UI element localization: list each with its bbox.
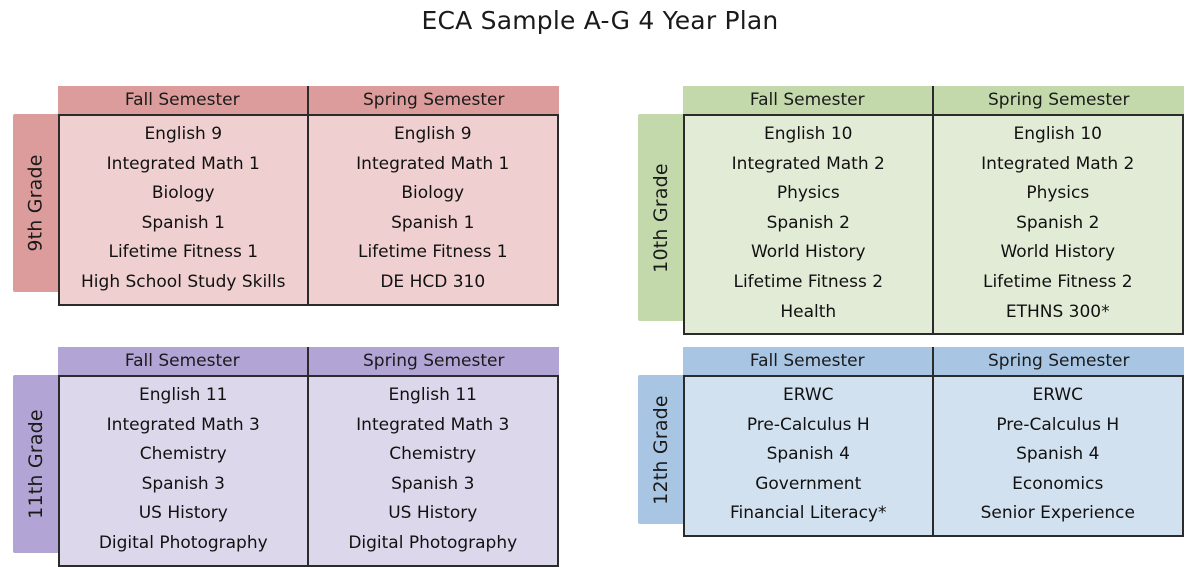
course-cell: Spanish 1 bbox=[60, 209, 307, 239]
column-header-fall: Fall Semester bbox=[58, 347, 309, 375]
spring-course-list: ERWCPre-Calculus HSpanish 4EconomicsSeni… bbox=[934, 377, 1183, 535]
course-cell: English 10 bbox=[685, 120, 932, 150]
course-cell: High School Study Skills bbox=[60, 268, 307, 298]
grade-tab-label: 11th Grade bbox=[25, 409, 47, 519]
course-cell: US History bbox=[309, 499, 558, 529]
course-cell: Spanish 4 bbox=[685, 440, 932, 470]
plan-table-grade-10: Fall Semester Spring Semester English 10… bbox=[683, 86, 1184, 335]
plan-body: English 11Integrated Math 3ChemistrySpan… bbox=[58, 375, 559, 567]
grade-tab-label: 10th Grade bbox=[650, 163, 672, 273]
course-cell: Pre-Calculus H bbox=[685, 411, 932, 441]
course-cell: Spanish 1 bbox=[309, 209, 558, 239]
plan-header-row: Fall Semester Spring Semester bbox=[683, 86, 1184, 114]
spring-course-list: English 10Integrated Math 2PhysicsSpanis… bbox=[934, 116, 1183, 333]
course-cell: English 9 bbox=[309, 120, 558, 150]
page-title: ECA Sample A-G 4 Year Plan bbox=[0, 6, 1200, 35]
grade-tab-grade-10: 10th Grade bbox=[638, 114, 683, 321]
course-cell: Integrated Math 1 bbox=[60, 150, 307, 180]
course-cell: ERWC bbox=[685, 381, 932, 411]
fall-course-list: English 9Integrated Math 1BiologySpanish… bbox=[60, 116, 309, 304]
plan-header-row: Fall Semester Spring Semester bbox=[58, 86, 559, 114]
course-cell: ETHNS 300* bbox=[934, 298, 1183, 328]
grade-tab-grade-12: 12th Grade bbox=[638, 375, 683, 524]
course-cell: Economics bbox=[934, 470, 1183, 500]
course-cell: Integrated Math 2 bbox=[685, 150, 932, 180]
course-cell: Government bbox=[685, 470, 932, 500]
course-cell: Spanish 4 bbox=[934, 440, 1183, 470]
plan-header-row: Fall Semester Spring Semester bbox=[683, 347, 1184, 375]
grade-tab-label: 9th Grade bbox=[25, 154, 47, 251]
course-cell: Spanish 2 bbox=[685, 209, 932, 239]
plan-table-grade-9: Fall Semester Spring Semester English 9I… bbox=[58, 86, 559, 306]
grade-tab-label: 12th Grade bbox=[650, 395, 672, 505]
column-header-fall: Fall Semester bbox=[683, 86, 934, 114]
plan-table-grade-11: Fall Semester Spring Semester English 11… bbox=[58, 347, 559, 567]
course-cell: ERWC bbox=[934, 381, 1183, 411]
plan-table-grade-12: Fall Semester Spring Semester ERWCPre-Ca… bbox=[683, 347, 1184, 537]
course-cell: Lifetime Fitness 2 bbox=[685, 268, 932, 298]
course-cell: Spanish 3 bbox=[309, 470, 558, 500]
course-cell: Spanish 2 bbox=[934, 209, 1183, 239]
course-cell: English 11 bbox=[60, 381, 307, 411]
plan-body: ERWCPre-Calculus HSpanish 4GovernmentFin… bbox=[683, 375, 1184, 537]
column-header-fall: Fall Semester bbox=[58, 86, 309, 114]
column-header-spring: Spring Semester bbox=[934, 86, 1185, 114]
course-cell: Senior Experience bbox=[934, 499, 1183, 529]
fall-course-list: English 11Integrated Math 3ChemistrySpan… bbox=[60, 377, 309, 565]
course-cell: Health bbox=[685, 298, 932, 328]
plan-header-row: Fall Semester Spring Semester bbox=[58, 347, 559, 375]
column-header-spring: Spring Semester bbox=[934, 347, 1185, 375]
course-cell: English 9 bbox=[60, 120, 307, 150]
course-cell: English 11 bbox=[309, 381, 558, 411]
course-cell: Biology bbox=[309, 179, 558, 209]
course-cell: Integrated Math 3 bbox=[309, 411, 558, 441]
column-header-fall: Fall Semester bbox=[683, 347, 934, 375]
fall-course-list: ERWCPre-Calculus HSpanish 4GovernmentFin… bbox=[685, 377, 934, 535]
course-cell: World History bbox=[685, 238, 932, 268]
spring-course-list: English 9Integrated Math 1BiologySpanish… bbox=[309, 116, 558, 304]
plan-body: English 10Integrated Math 2PhysicsSpanis… bbox=[683, 114, 1184, 335]
course-cell: Lifetime Fitness 1 bbox=[60, 238, 307, 268]
fall-course-list: English 10Integrated Math 2PhysicsSpanis… bbox=[685, 116, 934, 333]
spring-course-list: English 11Integrated Math 3ChemistrySpan… bbox=[309, 377, 558, 565]
course-cell: Integrated Math 2 bbox=[934, 150, 1183, 180]
plan-body: English 9Integrated Math 1BiologySpanish… bbox=[58, 114, 559, 306]
course-cell: Integrated Math 1 bbox=[309, 150, 558, 180]
course-cell: Spanish 3 bbox=[60, 470, 307, 500]
course-cell: Biology bbox=[60, 179, 307, 209]
course-cell: Physics bbox=[685, 179, 932, 209]
course-cell: Lifetime Fitness 1 bbox=[309, 238, 558, 268]
column-header-spring: Spring Semester bbox=[309, 347, 560, 375]
course-cell: English 10 bbox=[934, 120, 1183, 150]
course-cell: US History bbox=[60, 499, 307, 529]
course-cell: Integrated Math 3 bbox=[60, 411, 307, 441]
course-cell: World History bbox=[934, 238, 1183, 268]
course-cell: Chemistry bbox=[309, 440, 558, 470]
course-cell: Pre-Calculus H bbox=[934, 411, 1183, 441]
grade-tab-grade-9: 9th Grade bbox=[13, 114, 58, 292]
course-cell: Lifetime Fitness 2 bbox=[934, 268, 1183, 298]
course-cell: Financial Literacy* bbox=[685, 499, 932, 529]
course-cell: Physics bbox=[934, 179, 1183, 209]
column-header-spring: Spring Semester bbox=[309, 86, 560, 114]
course-cell: Chemistry bbox=[60, 440, 307, 470]
course-cell: Digital Photography bbox=[60, 529, 307, 559]
course-cell: Digital Photography bbox=[309, 529, 558, 559]
course-cell: DE HCD 310 bbox=[309, 268, 558, 298]
grade-tab-grade-11: 11th Grade bbox=[13, 375, 58, 553]
